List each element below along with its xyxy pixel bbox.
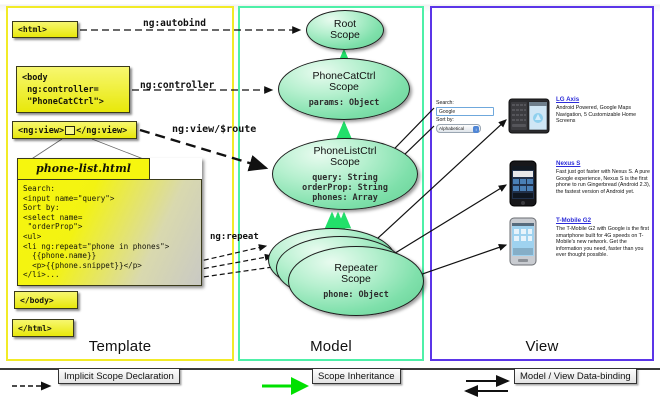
body-close-tag: </body> xyxy=(14,291,78,309)
search-input[interactable]: Google xyxy=(436,107,494,116)
scope-phonecatctrl: PhoneCatCtrl Scope params: Object xyxy=(278,58,410,120)
note-title: phone-list.html xyxy=(18,159,149,179)
phone-thumbnail-icon xyxy=(508,96,550,152)
note-body: Search: <input name="query"> Sort by: <s… xyxy=(17,179,202,286)
label-ng-controller: ng:controller xyxy=(140,80,214,91)
label-ng-autobind: ng:autobind xyxy=(143,18,206,29)
ng-view-open: <ng:view> xyxy=(18,126,64,136)
scope-repeater-stack: Repeater Scope phone: Object xyxy=(268,228,424,324)
legend-item-scope-inheritance: Scope Inheritance xyxy=(312,368,401,384)
legend: Implicit Scope Declaration Scope Inherit… xyxy=(0,368,660,405)
scope-phonecatctrl-props: params: Object xyxy=(309,97,380,107)
body-controller-tag: <body ng:controller= "PhoneCatCtrl"> xyxy=(16,66,130,113)
scope-root: Root Scope xyxy=(306,10,384,50)
label-ng-view-route: ng:view/$route xyxy=(172,124,256,135)
sort-select-value: Alphabetical xyxy=(439,126,464,131)
label-ng-repeat: ng:repeat xyxy=(210,232,259,242)
panel-model-label: Model xyxy=(240,338,422,355)
legend-item-data-binding: Model / View Data-binding xyxy=(514,368,637,384)
legend-item-implicit-scope: Implicit Scope Declaration xyxy=(58,368,180,384)
note-header: phone-list.html xyxy=(17,158,150,180)
html-close-tag: </html> xyxy=(12,319,74,337)
search-label: Search: xyxy=(436,100,498,107)
search-widget: Search: Google Sort by: Alphabetical ↕ xyxy=(436,100,498,133)
scope-phonelistctrl-name: PhoneListCtrl Scope xyxy=(313,146,376,169)
ng-view-close: </ng:view> xyxy=(76,126,127,136)
panel-template-label: Template xyxy=(8,338,232,355)
diagram-canvas: Template Model View xyxy=(0,0,660,405)
html-open-tag: <html> xyxy=(12,21,78,38)
scope-phonelistctrl: PhoneListCtrl Scope query: String orderP… xyxy=(272,138,418,210)
scope-phonecatctrl-name: PhoneCatCtrl Scope xyxy=(312,71,375,94)
ng-view-tag: <ng:view></ng:view> xyxy=(12,121,137,139)
scope-root-name: Root Scope xyxy=(330,19,360,42)
panel-view-label: View xyxy=(432,338,652,355)
scope-repeater-front: Repeater Scope phone: Object xyxy=(288,246,424,316)
sort-select[interactable]: Alphabetical ↕ xyxy=(436,124,481,133)
phone-thumbnail-icon xyxy=(508,160,538,208)
scope-phonelistctrl-props: query: String orderProp: String phones: … xyxy=(302,172,388,203)
note-code: Search: <input name="query"> Sort by: <s… xyxy=(23,184,198,280)
ng-view-placeholder-icon xyxy=(65,126,75,135)
scope-repeater-name: Repeater Scope xyxy=(334,263,377,286)
phone-snippet: The T-Mobile G2 with Google is the first… xyxy=(556,226,654,259)
phone-name-link[interactable]: T-Mobile G2 xyxy=(556,217,591,224)
phone-list-template-note: phone-list.html Search: <input name="que… xyxy=(17,158,202,286)
chevron-down-icon: ↕ xyxy=(473,126,479,133)
phone-snippet: Android Powered, Google Maps Navigation,… xyxy=(556,105,654,125)
phone-thumbnail-icon xyxy=(508,217,538,267)
sort-label: Sort by: xyxy=(436,117,498,124)
phone-name-link[interactable]: Nexus S xyxy=(556,160,580,167)
phone-snippet: Fast just got faster with Nexus S. A pur… xyxy=(556,169,654,195)
phone-name-link[interactable]: LG Axis xyxy=(556,96,579,103)
scope-repeater-props: phone: Object xyxy=(323,289,389,299)
